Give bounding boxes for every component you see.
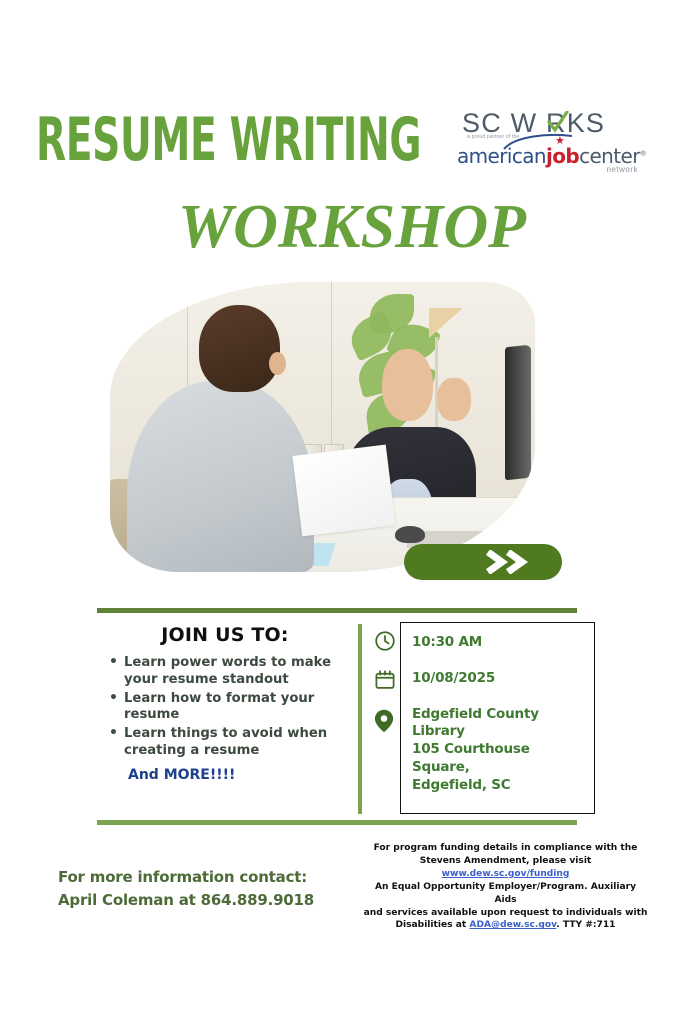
disclaimer-line-5-post: . TTY #:711 bbox=[556, 920, 615, 930]
ada-email-link[interactable]: ADA@dew.sc.gov bbox=[469, 920, 556, 930]
page-subtitle: WORKSHOP bbox=[178, 196, 526, 258]
disclaimer-block: For program funding details in complianc… bbox=[363, 842, 648, 932]
funding-link[interactable]: www.dew.sc.gov/funding bbox=[442, 869, 570, 879]
clock-icon bbox=[374, 630, 396, 652]
photo-woman-head bbox=[382, 349, 433, 422]
chevron-banner bbox=[404, 544, 562, 580]
flyer-page: RESUME WRITING WORKSHOP SC W RKS a proud… bbox=[0, 0, 673, 1030]
join-us-heading: JOIN US TO: bbox=[100, 624, 350, 646]
event-details-box: 10:30 AM 10/08/2025 Edgefield County Lib… bbox=[400, 622, 595, 814]
disclaimer-line-3: An Equal Opportunity Employer/Program. A… bbox=[363, 881, 648, 907]
list-item: Learn things to avoid when creating a re… bbox=[106, 726, 350, 760]
calendar-icon bbox=[374, 669, 396, 691]
photo-man-head bbox=[199, 305, 280, 392]
event-date: 10/08/2025 bbox=[412, 670, 586, 688]
divider-bottom bbox=[97, 820, 577, 825]
logo-american-text: american bbox=[457, 144, 546, 168]
event-time: 10:30 AM bbox=[412, 634, 586, 652]
logo-network-text: network bbox=[606, 165, 638, 174]
page-title: RESUME WRITING bbox=[36, 110, 421, 170]
disclaimer-line-5-pre: Disabilities at bbox=[395, 920, 469, 930]
disclaimer-line-4: and services available upon request to i… bbox=[363, 907, 648, 920]
logo-job-text: job bbox=[546, 144, 579, 168]
double-chevron-right-icon bbox=[482, 550, 536, 574]
contact-block: For more information contact: April Cole… bbox=[58, 866, 314, 911]
header: RESUME WRITING WORKSHOP SC W RKS a proud… bbox=[0, 0, 673, 270]
list-item: Learn how to format your resume bbox=[106, 691, 350, 725]
detail-icons-column bbox=[374, 626, 400, 733]
photo-resume-paper bbox=[292, 445, 395, 537]
hero-photo bbox=[110, 282, 535, 572]
divider-vertical bbox=[358, 624, 362, 814]
divider-top bbox=[97, 608, 577, 613]
disclaimer-line-2: Stevens Amendment, please visit bbox=[363, 855, 648, 868]
green-checkmark-icon bbox=[547, 111, 569, 133]
photo-mouse bbox=[395, 526, 425, 543]
photo-monitor bbox=[505, 344, 531, 480]
contact-line-2: April Coleman at 864.889.9018 bbox=[58, 889, 314, 912]
disclaimer-line-5: Disabilities at ADA@dew.sc.gov. TTY #:71… bbox=[363, 919, 648, 932]
photo-lamp-shade bbox=[429, 308, 463, 338]
event-venue: Edgefield County Library bbox=[412, 706, 586, 742]
info-section: JOIN US TO: Learn power words to make yo… bbox=[0, 608, 673, 833]
photo-wall-seam bbox=[331, 282, 332, 450]
list-item: Learn power words to make your resume st… bbox=[106, 655, 350, 689]
and-more-text: And MORE!!!! bbox=[100, 767, 350, 783]
sc-works-logo: SC W RKS a proud partner of the ★ americ… bbox=[455, 108, 640, 176]
photo-lamp-pole bbox=[435, 337, 438, 436]
hero-photo-image bbox=[110, 282, 535, 572]
location-pin-icon bbox=[374, 709, 394, 733]
disclaimer-line-1: For program funding details in complianc… bbox=[363, 842, 648, 855]
photo-woman-ok-hand bbox=[437, 378, 471, 422]
event-address-line1: 105 Courthouse Square, bbox=[412, 741, 586, 777]
join-us-block: JOIN US TO: Learn power words to make yo… bbox=[100, 624, 350, 783]
benefits-list: Learn power words to make your resume st… bbox=[100, 655, 350, 760]
event-address-line2: Edgefield, SC bbox=[412, 777, 586, 795]
contact-line-1: For more information contact: bbox=[58, 866, 314, 889]
logo-registered-mark: ® bbox=[640, 149, 646, 157]
